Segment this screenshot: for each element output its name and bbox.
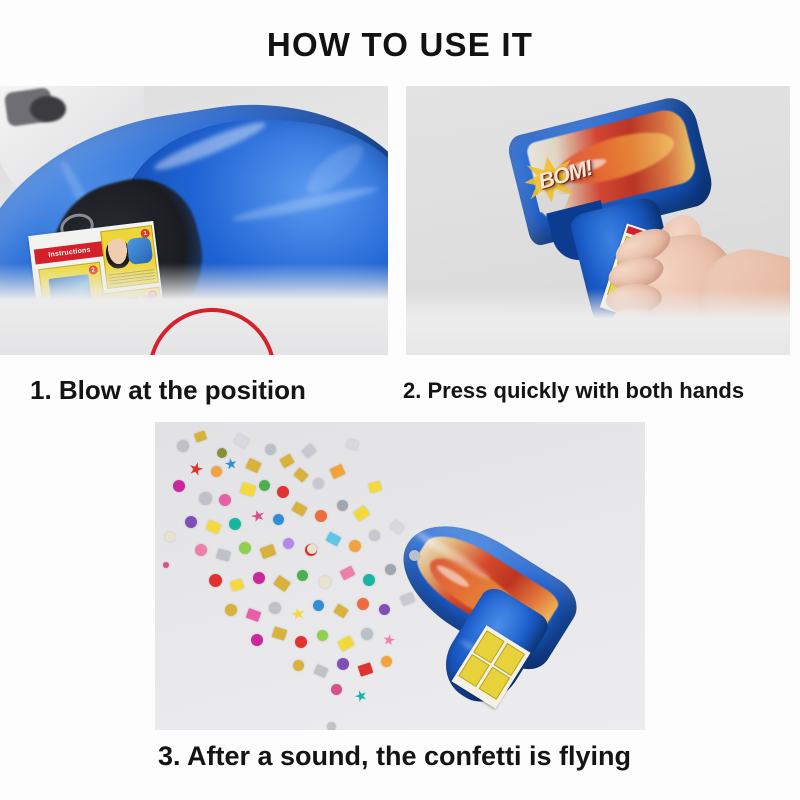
step-2-caption: 2. Press quickly with both hands	[403, 378, 744, 404]
confetti-piece	[229, 518, 241, 530]
confetti-piece	[363, 574, 375, 586]
confetti-piece	[385, 564, 396, 575]
confetti-piece	[251, 634, 263, 646]
confetti-piece	[163, 562, 169, 568]
confetti-piece	[217, 448, 227, 458]
confetti-piece	[313, 600, 324, 611]
instruction-sticker-header: Instructions	[34, 241, 105, 264]
photo-balloon-valve: Instructions 2 1 3	[0, 86, 388, 355]
confetti-piece	[319, 576, 331, 588]
confetti-piece	[283, 538, 294, 549]
confetti-piece	[337, 658, 349, 670]
step-1-photo: Instructions 2 1 3	[0, 86, 388, 355]
confetti-piece	[369, 530, 380, 541]
table-surface	[406, 289, 790, 355]
confetti-piece	[225, 604, 237, 616]
confetti-piece	[269, 602, 281, 614]
confetti-piece	[199, 492, 212, 505]
confetti-piece	[349, 540, 361, 552]
confetti-piece	[219, 494, 231, 506]
confetti-piece	[173, 480, 185, 492]
confetti-piece	[195, 544, 207, 556]
instruction-sticker-header-label: Instructions	[48, 247, 91, 259]
confetti-piece	[331, 684, 342, 695]
confetti-piece	[273, 514, 284, 525]
confetti-piece	[265, 444, 276, 455]
photo-hand-holding-gun: BOM!	[406, 86, 790, 355]
confetti-piece	[381, 656, 392, 667]
confetti-piece	[409, 550, 420, 561]
confetti-piece	[295, 636, 307, 648]
confetti-piece	[317, 630, 328, 641]
dark-object-2	[30, 96, 66, 122]
confetti-piece	[307, 544, 317, 554]
confetti-piece	[337, 500, 348, 511]
photo-background	[155, 422, 645, 730]
confetti-piece	[327, 722, 336, 730]
confetti-piece	[259, 480, 270, 491]
confetti-piece	[185, 516, 197, 528]
photo-confetti-burst	[155, 422, 645, 730]
confetti-piece	[379, 604, 390, 615]
confetti-piece	[253, 572, 265, 584]
step-3-photo	[155, 422, 645, 730]
confetti-piece	[277, 486, 289, 498]
confetti-piece	[165, 532, 175, 542]
confetti-piece	[211, 466, 222, 477]
confetti-piece	[239, 542, 251, 554]
confetti-piece	[209, 574, 222, 587]
instruction-cell-art	[126, 236, 153, 265]
confetti-piece	[293, 660, 304, 671]
step-3-caption: 3. After a sound, the confetti is flying	[158, 741, 631, 772]
confetti-piece	[361, 628, 373, 640]
step-2-photo: BOM!	[406, 86, 790, 355]
page-title: HOW TO USE IT	[0, 26, 800, 64]
confetti-piece	[357, 598, 369, 610]
step-1-caption: 1. Blow at the position	[30, 375, 306, 406]
how-to-use-infographic: HOW TO USE IT Instructions	[0, 0, 800, 800]
confetti-piece	[313, 478, 324, 489]
confetti-piece	[297, 570, 308, 581]
confetti-piece	[315, 510, 327, 522]
